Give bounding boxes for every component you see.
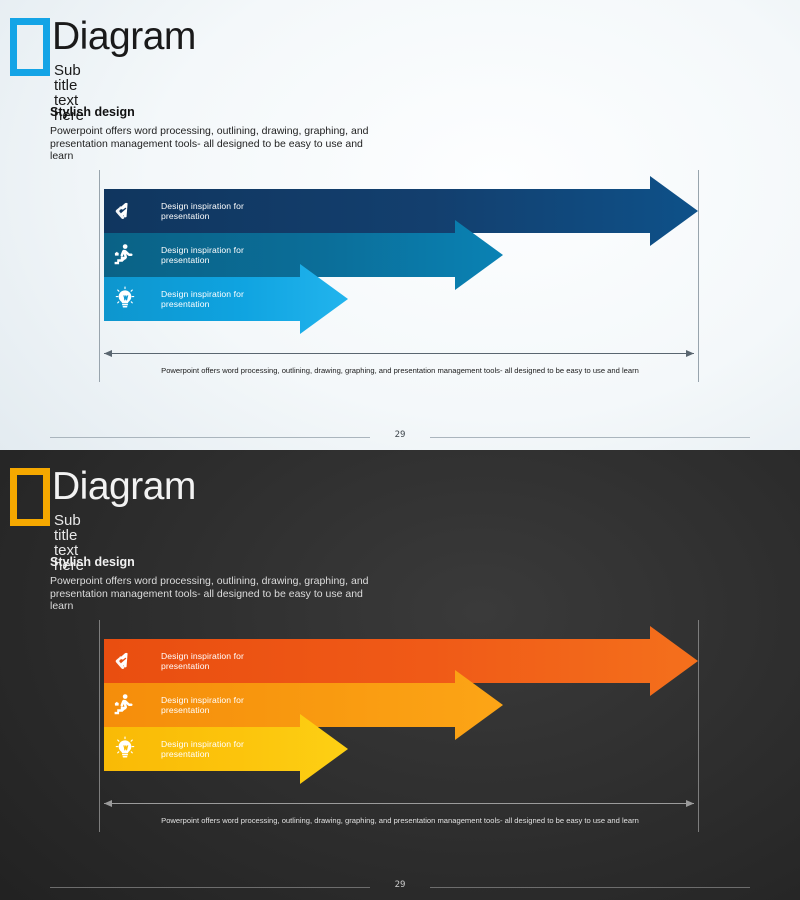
arrow-label-2: Design inspiration for presentation bbox=[161, 695, 244, 716]
logo-box-icon bbox=[10, 18, 50, 76]
span-arrowhead-right bbox=[686, 800, 694, 807]
span-arrowhead-right bbox=[686, 350, 694, 357]
page-title: Diagram bbox=[52, 467, 196, 506]
page-title: Diagram bbox=[52, 17, 196, 56]
span-arrowhead-left bbox=[104, 800, 112, 807]
span-caption: Powerpoint offers word processing, outli… bbox=[120, 366, 680, 376]
lightbulb-icon bbox=[112, 286, 138, 312]
slide-footer: 29 bbox=[0, 874, 800, 900]
intro-heading: Stylish design bbox=[50, 555, 135, 569]
handshake-icon bbox=[112, 648, 138, 674]
career-stairs-icon bbox=[112, 692, 138, 718]
arrow-diagram bbox=[0, 0, 800, 450]
slide-light: Diagram Sub title text here Stylish desi… bbox=[0, 0, 800, 450]
intro-body: Powerpoint offers word processing, outli… bbox=[50, 575, 385, 613]
lightbulb-icon bbox=[112, 736, 138, 762]
span-caption: Powerpoint offers word processing, outli… bbox=[120, 816, 680, 826]
arrow-label-2: Design inspiration for presentation bbox=[161, 245, 244, 266]
intro-body: Powerpoint offers word processing, outli… bbox=[50, 125, 385, 163]
arrow-label-3: Design inspiration for presentation bbox=[161, 739, 244, 760]
slide-footer: 29 bbox=[0, 424, 800, 450]
handshake-icon bbox=[112, 198, 138, 224]
span-arrowhead-left bbox=[104, 350, 112, 357]
page-number: 29 bbox=[0, 880, 800, 890]
arrow-label-3: Design inspiration for presentation bbox=[161, 289, 244, 310]
slide-dark: Diagram Sub title text here Stylish desi… bbox=[0, 450, 800, 900]
logo-box-icon bbox=[10, 468, 50, 526]
career-stairs-icon bbox=[112, 242, 138, 268]
arrow-label-1: Design inspiration for presentation bbox=[161, 201, 244, 222]
arrow-diagram bbox=[0, 450, 800, 900]
intro-heading: Stylish design bbox=[50, 105, 135, 119]
arrow-label-1: Design inspiration for presentation bbox=[161, 651, 244, 672]
page-number: 29 bbox=[0, 430, 800, 440]
